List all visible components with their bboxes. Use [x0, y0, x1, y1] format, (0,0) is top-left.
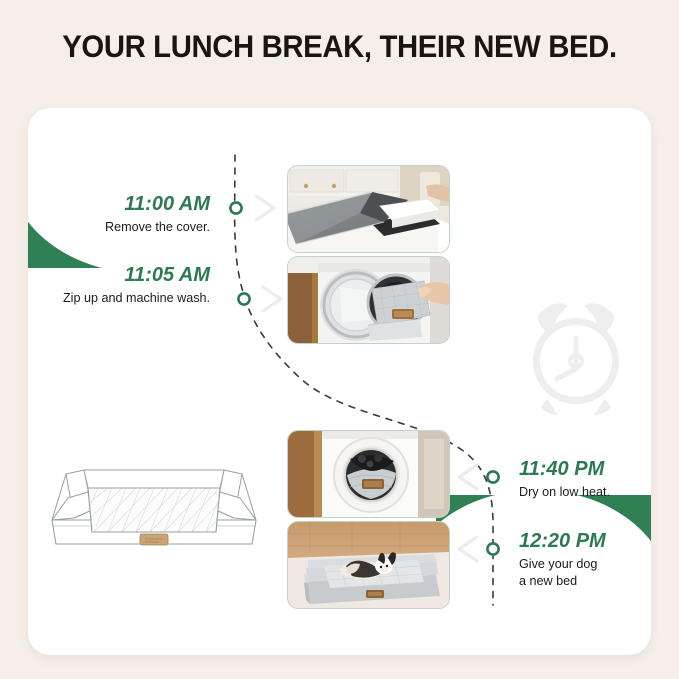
bed-brand-tag [140, 534, 168, 545]
timeline-step-4-desc-line1: Give your dog [519, 556, 669, 572]
timeline-step-4-desc-line2: a new bed [519, 573, 669, 589]
timeline-step-4: 12:20 PM Give your dog a new bed [519, 530, 669, 589]
corner-wedge-mask-tl [28, 108, 278, 273]
timeline-step-2: 11:05 AM Zip up and machine wash. [10, 264, 210, 306]
page-title: YOUR LUNCH BREAK, THEIR NEW BED. [24, 28, 655, 65]
photo-dog-on-bed[interactable] [287, 521, 450, 609]
timeline-step-1: 11:00 AM Remove the cover. [28, 193, 210, 235]
timeline-step-1-desc: Remove the cover. [28, 219, 210, 235]
timeline-step-3: 11:40 PM Dry on low heat. [519, 458, 669, 500]
timeline-step-3-desc: Dry on low heat. [519, 484, 669, 500]
timeline-step-1-time: 11:00 AM [28, 193, 210, 215]
alarm-clock-icon [524, 294, 628, 419]
timeline-step-2-desc: Zip up and machine wash. [10, 290, 210, 306]
bed-line-drawing [38, 448, 270, 576]
timeline-step-2-time: 11:05 AM [10, 264, 210, 286]
infographic-root: YOUR LUNCH BREAK, THEIR NEW BED. [0, 0, 679, 679]
timeline-step-3-time: 11:40 PM [519, 458, 669, 480]
photo-remove-cover[interactable] [287, 165, 450, 253]
photo-machine-wash[interactable] [287, 256, 450, 344]
corner-wedge-top-left [28, 108, 243, 268]
photo-tumble-dry[interactable] [287, 430, 450, 518]
timeline-step-4-time: 12:20 PM [519, 530, 669, 552]
